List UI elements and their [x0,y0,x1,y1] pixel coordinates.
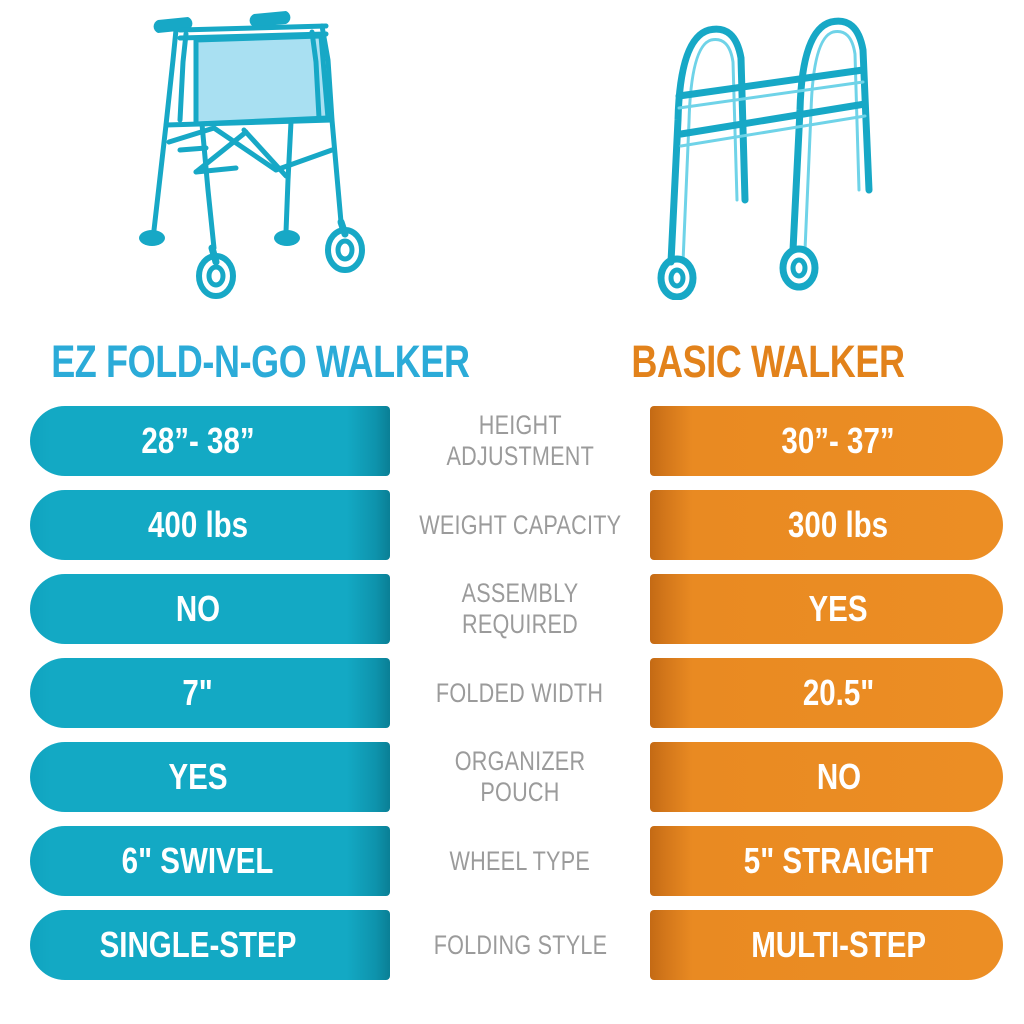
right-value-text: 20.5" [803,673,874,713]
feature-label-cell: FOLDING STYLE [392,910,648,980]
feature-label: ORGANIZER POUCH [418,746,623,808]
left-value-text: 28”- 38” [141,421,254,461]
feature-label-cell: ASSEMBLY REQUIRED [392,574,648,644]
right-value-text: MULTI-STEP [751,925,926,965]
comparison-row: 7" FOLDED WIDTH 20.5" [0,658,1024,728]
left-value-bar: NO [30,574,390,644]
left-value-bar: 6" SWIVEL [30,826,390,896]
right-value-text: 5" STRAIGHT [744,841,933,881]
comparison-row: YES ORGANIZER POUCH NO [0,742,1024,812]
comparison-row: 400 lbs WEIGHT CAPACITY 300 lbs [0,490,1024,560]
left-value-text: 7" [183,673,213,713]
comparison-table: 28”- 38” HEIGHT ADJUSTMENT 30”- 37” 400 … [0,406,1024,1006]
right-value-text: 300 lbs [788,505,888,545]
feature-label: FOLDING STYLE [433,930,607,961]
left-value-bar: 28”- 38” [30,406,390,476]
left-product-title: EZ FOLD-N-GO WALKER [51,332,461,392]
right-product-title: BASIC WALKER [563,332,973,392]
left-value-text: SINGLE-STEP [100,925,297,965]
feature-label: WHEEL TYPE [450,846,590,877]
folding-walker-with-seat-icon [136,0,376,300]
right-value-bar: 300 lbs [650,490,1003,560]
comparison-row: 28”- 38” HEIGHT ADJUSTMENT 30”- 37” [0,406,1024,476]
feature-label-cell: WHEEL TYPE [392,826,648,896]
feature-label-cell: HEIGHT ADJUSTMENT [392,406,648,476]
right-value-bar: MULTI-STEP [650,910,1003,980]
right-value-bar: 5" STRAIGHT [650,826,1003,896]
feature-label: ASSEMBLY REQUIRED [462,578,579,640]
comparison-row: NO ASSEMBLY REQUIRED YES [0,574,1024,644]
left-value-text: 6" SWIVEL [122,841,274,881]
left-product-illustration-cell [0,0,512,330]
basic-folding-walker-icon [653,0,883,300]
left-value-text: 400 lbs [148,505,248,545]
left-value-bar: 7" [30,658,390,728]
right-value-text: NO [816,757,860,797]
left-value-text: NO [176,589,220,629]
product-illustrations [0,0,1024,330]
right-value-bar: 20.5" [650,658,1003,728]
left-value-bar: 400 lbs [30,490,390,560]
product-titles: EZ FOLD-N-GO WALKER BASIC WALKER [0,332,1024,404]
right-value-text: 30”- 37” [782,421,895,461]
feature-label-cell: WEIGHT CAPACITY [392,490,648,560]
right-value-bar: YES [650,574,1003,644]
left-value-text: YES [168,757,227,797]
right-value-text: YES [809,589,868,629]
right-product-illustration-cell [512,0,1024,330]
comparison-row: 6" SWIVEL WHEEL TYPE 5" STRAIGHT [0,826,1024,896]
feature-label-cell: FOLDED WIDTH [392,658,648,728]
left-value-bar: YES [30,742,390,812]
left-value-bar: SINGLE-STEP [30,910,390,980]
feature-label: WEIGHT CAPACITY [419,510,621,541]
comparison-row: SINGLE-STEP FOLDING STYLE MULTI-STEP [0,910,1024,980]
feature-label: FOLDED WIDTH [436,678,603,709]
right-value-bar: 30”- 37” [650,406,1003,476]
feature-label: HEIGHT ADJUSTMENT [446,410,594,472]
feature-label-cell: ORGANIZER POUCH [392,742,648,812]
right-value-bar: NO [650,742,1003,812]
